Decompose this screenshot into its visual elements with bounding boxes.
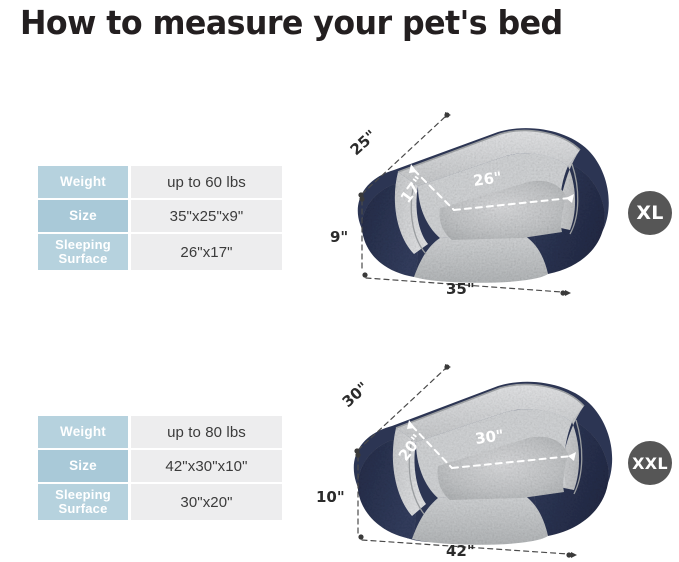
spec-value-weight-xl: up to 60 lbs <box>131 166 282 198</box>
dimension-label-height-xl: 9" <box>330 228 348 246</box>
pet-bed-illustration-xxl: 30" 10" 42" 20" 30" <box>300 342 630 560</box>
spec-table-xxl: Weight up to 80 lbs Size 42"x30"x10" Sle… <box>38 414 282 522</box>
size-badge-xxl: XXL <box>628 441 672 485</box>
spec-value-weight-xxl: up to 80 lbs <box>131 416 282 448</box>
spec-label-sleeping-surface-xl: Sleeping Surface <box>38 234 128 270</box>
bed-body-xxl <box>354 382 612 545</box>
spec-label-weight-xl: Weight <box>38 166 128 198</box>
dimension-label-depth-xxl: 30" <box>339 378 372 411</box>
dimension-label-width-xl: 35" <box>446 280 475 298</box>
table-row: Sleeping Surface 26"x17" <box>38 234 282 270</box>
dimension-label-depth-xl: 25" <box>347 126 380 159</box>
infographic-page: How to measure your pet's bed Weight up … <box>0 0 679 562</box>
table-row: Size 35"x25"x9" <box>38 200 282 232</box>
table-row: Weight up to 80 lbs <box>38 416 282 448</box>
table-row: Size 42"x30"x10" <box>38 450 282 482</box>
size-badge-xl: XL <box>628 191 672 235</box>
bed-body-xl <box>358 128 609 283</box>
spec-label-line2: Surface <box>38 252 128 266</box>
table-row: Sleeping Surface 30"x20" <box>38 484 282 520</box>
dimension-label-height-xxl: 10" <box>316 488 345 506</box>
spec-value-sleeping-surface-xl: 26"x17" <box>131 234 282 270</box>
page-title: How to measure your pet's bed <box>20 2 639 44</box>
spec-table-xl: Weight up to 60 lbs Size 35"x25"x9" Slee… <box>38 164 282 272</box>
spec-value-size-xxl: 42"x30"x10" <box>131 450 282 482</box>
table-row: Weight up to 60 lbs <box>38 166 282 198</box>
spec-label-sleeping-surface-xxl: Sleeping Surface <box>38 484 128 520</box>
spec-label-weight-xxl: Weight <box>38 416 128 448</box>
dimension-label-width-xxl: 42" <box>446 542 475 560</box>
spec-value-sleeping-surface-xxl: 30"x20" <box>131 484 282 520</box>
spec-label-size-xl: Size <box>38 200 128 232</box>
spec-value-size-xl: 35"x25"x9" <box>131 200 282 232</box>
spec-label-size-xxl: Size <box>38 450 128 482</box>
pet-bed-illustration-xl: 25" 9" 35" 17" 26" <box>322 92 622 302</box>
spec-label-line1: Sleeping <box>38 238 128 252</box>
spec-label-line1: Sleeping <box>38 488 128 502</box>
spec-label-line2: Surface <box>38 502 128 516</box>
